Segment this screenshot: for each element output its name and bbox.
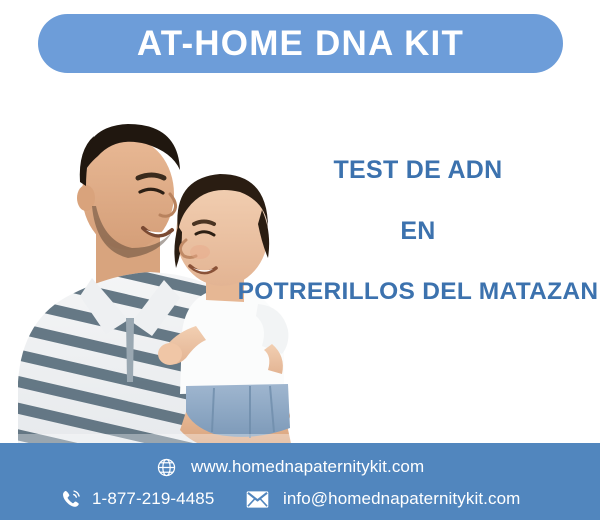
envelope-icon <box>246 490 269 509</box>
footer-phone-row[interactable]: 1-877-219-4485 <box>60 486 214 512</box>
footer-website-text[interactable]: www.homednapaternitykit.com <box>191 457 424 477</box>
footer-website-row[interactable]: www.homednapaternitykit.com <box>156 455 424 479</box>
globe-icon <box>156 457 177 478</box>
headline-line-2: EN <box>236 219 600 244</box>
footer-notch <box>0 443 312 455</box>
footer-email-text[interactable]: info@homednapaternitykit.com <box>283 489 520 509</box>
headline-line-3: POTRERILLOS DEL MATAZAN <box>236 280 600 305</box>
headline-line-1: TEST DE ADN <box>236 158 600 183</box>
poster-root: AT-HOME DNA KIT <box>0 0 600 520</box>
phone-icon <box>60 488 82 510</box>
page-title: AT-HOME DNA KIT <box>137 26 464 61</box>
footer-email-row[interactable]: info@homednapaternitykit.com <box>246 486 520 512</box>
footer-phone-text[interactable]: 1-877-219-4485 <box>92 489 214 509</box>
header-banner: AT-HOME DNA KIT <box>38 14 563 73</box>
headline-block: TEST DE ADN EN POTRERILLOS DEL MATAZAN <box>236 158 600 305</box>
